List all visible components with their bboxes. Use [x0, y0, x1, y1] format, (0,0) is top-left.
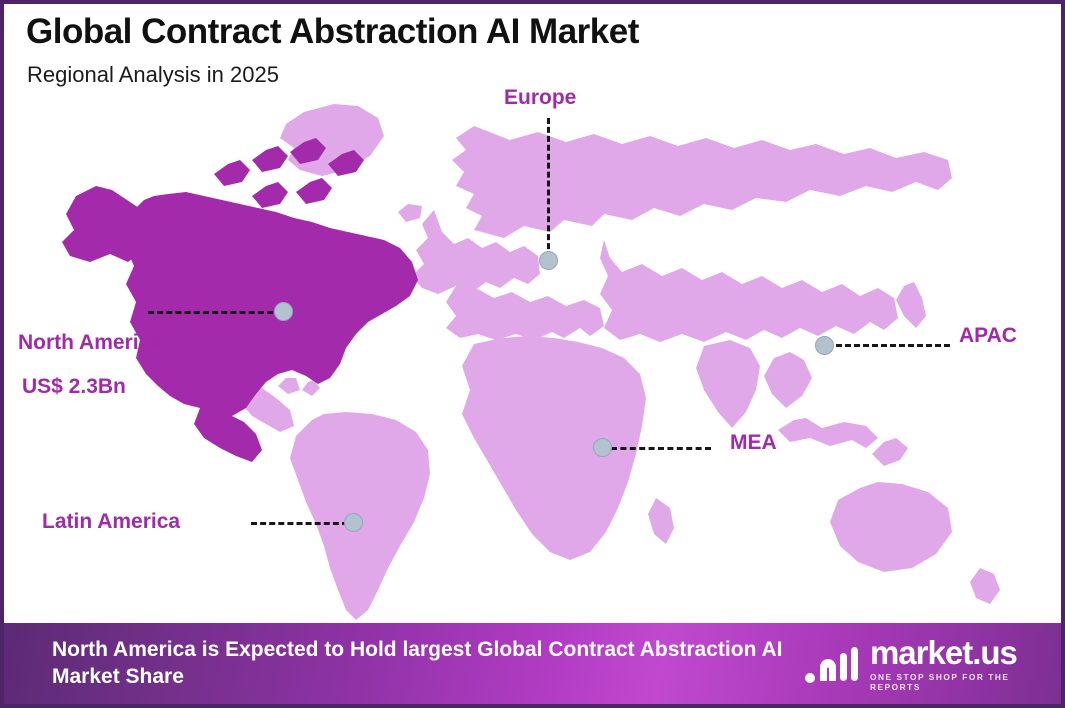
footer-banner: North America is Expected to Hold larges…: [4, 623, 1061, 704]
page-title: Global Contract Abstraction AI Market: [26, 12, 639, 52]
world-map: [4, 90, 1061, 620]
map-marker-mea[interactable]: [593, 438, 612, 457]
region-label-apac: APAC: [959, 324, 1017, 348]
footer-headline: North America is Expected to Hold larges…: [4, 637, 803, 690]
region-label-north-america: North America: [18, 331, 162, 355]
leader-line-mea: [611, 447, 711, 450]
map-marker-north-america[interactable]: [274, 302, 293, 321]
map-marker-europe[interactable]: [539, 251, 558, 270]
leader-line-north-america: [148, 311, 273, 314]
region-value-north-america: US$ 2.3Bn: [22, 375, 126, 399]
map-highlight-north-america: [62, 138, 418, 462]
page-subtitle: Regional Analysis in 2025: [27, 62, 279, 88]
world-map-svg: [4, 90, 1061, 620]
region-label-europe: Europe: [504, 86, 576, 110]
market-us-logo-text: market.us ONE STOP SHOP FOR THE REPORTS: [870, 636, 1029, 692]
logo-name: market.us: [870, 636, 1017, 669]
map-marker-apac[interactable]: [815, 336, 834, 355]
leader-line-europe: [547, 118, 550, 258]
leader-line-apac: [827, 344, 950, 347]
region-label-latin-america: Latin America: [42, 510, 180, 534]
logo-tagline: ONE STOP SHOP FOR THE REPORTS: [870, 672, 1029, 692]
infographic-frame: Global Contract Abstraction AI Market Re…: [0, 0, 1065, 708]
region-label-mea: MEA: [730, 431, 777, 455]
map-marker-latin-america[interactable]: [344, 513, 363, 532]
market-us-logo[interactable]: market.us ONE STOP SHOP FOR THE REPORTS: [803, 636, 1061, 692]
leader-line-latin-america: [251, 522, 348, 525]
market-us-logo-icon: [803, 643, 861, 685]
map-base-continents: [242, 104, 1000, 620]
